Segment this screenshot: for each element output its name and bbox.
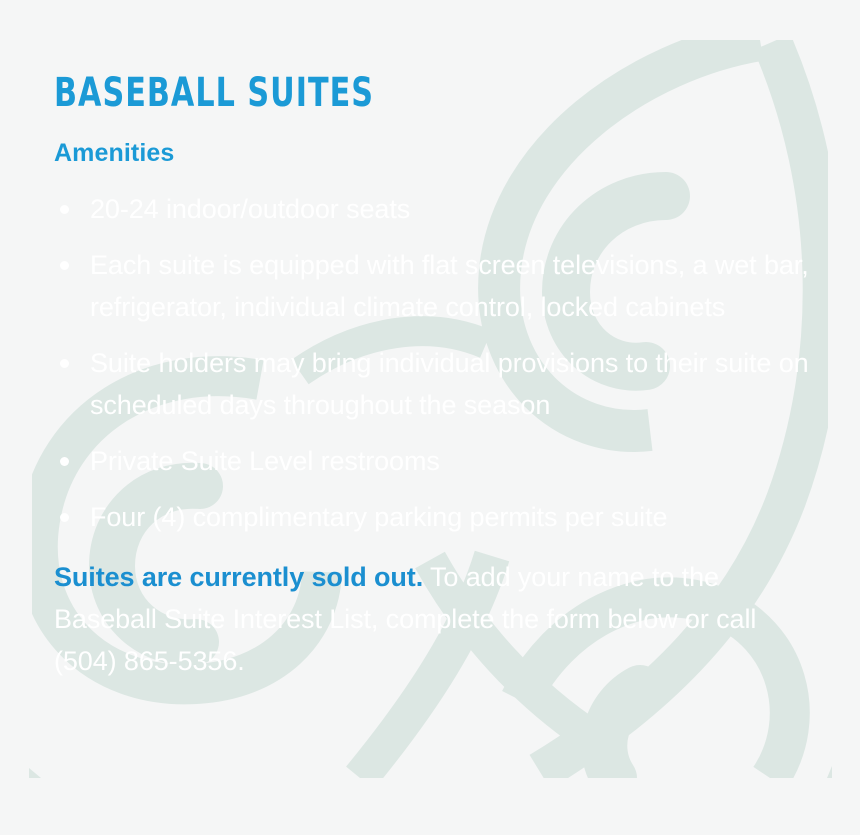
decor-corner-nick-left <box>29 768 41 778</box>
list-item-label: Four (4) complimentary parking permits p… <box>90 502 667 532</box>
bullet-icon <box>60 457 69 466</box>
bullet-icon <box>60 261 69 270</box>
list-item: Private Suite Level restrooms <box>54 440 814 482</box>
list-item: 20-24 indoor/outdoor seats <box>54 188 814 230</box>
list-item-label: Suite holders may bring individual provi… <box>90 348 809 420</box>
card-content: BASEBALL SUITES Amenities 20-24 indoor/o… <box>0 0 806 682</box>
list-item-label: Each suite is equipped with flat screen … <box>90 250 809 322</box>
list-item-label: Private Suite Level restrooms <box>90 446 440 476</box>
sold-out-emphasis: Suites are currently sold out. <box>54 562 423 592</box>
suites-info-card: BASEBALL SUITES Amenities 20-24 indoor/o… <box>0 0 860 835</box>
amenities-heading: Amenities <box>54 140 806 168</box>
bullet-icon <box>60 205 69 214</box>
list-item: Each suite is equipped with flat screen … <box>54 244 814 328</box>
amenities-list: 20-24 indoor/outdoor seats Each suite is… <box>54 188 814 538</box>
list-item: Four (4) complimentary parking permits p… <box>54 496 814 538</box>
list-item-label: 20-24 indoor/outdoor seats <box>90 194 410 224</box>
bullet-icon <box>60 359 69 368</box>
page-title: BASEBALL SUITES <box>54 72 686 114</box>
bullet-icon <box>60 513 69 522</box>
sold-out-notice: Suites are currently sold out. To add yo… <box>54 556 814 682</box>
list-item: Suite holders may bring individual provi… <box>54 342 814 426</box>
decor-corner-nick-right <box>827 766 832 778</box>
